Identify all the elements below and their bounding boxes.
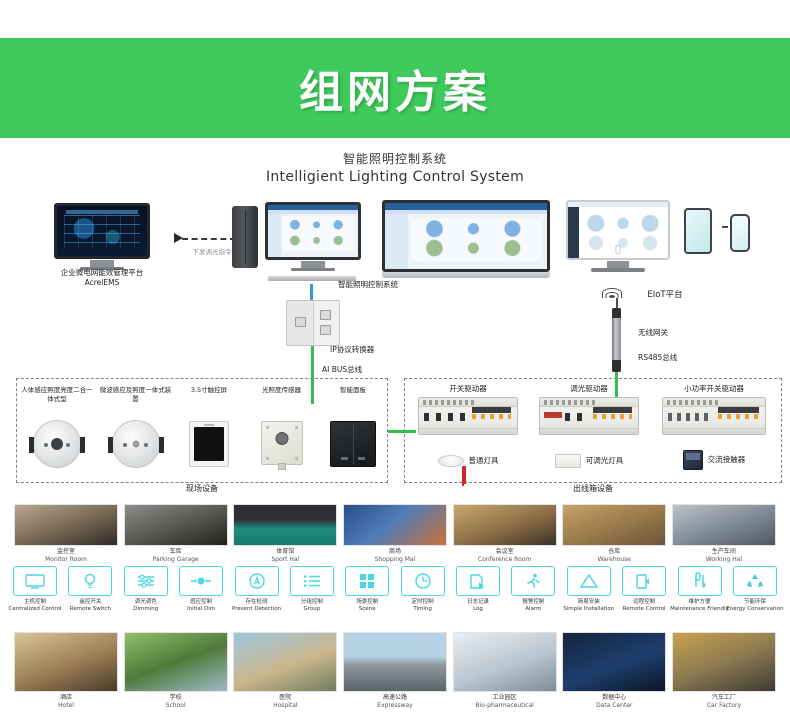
scene2-label-cn-4: 工业园区 <box>493 694 517 701</box>
field-item-label-1: 微波感应及照度一体式装置 <box>100 386 172 408</box>
sliders-icon <box>124 566 168 596</box>
feature-en-4: Present Detection <box>232 606 281 612</box>
scene2-label-cn-0: 酒店 <box>60 694 72 701</box>
driver-list: 开关驱动器 普通灯具 调光驱动器 可调光灯具 <box>412 384 774 470</box>
feature-cn-10: 简易安装 <box>578 599 600 605</box>
circle-a-icon <box>235 566 279 596</box>
field-item-motion-sensor[interactable]: 人体感应照度亮度二合一体式型 <box>20 386 94 468</box>
feature-cn-3: 感应控制 <box>190 599 212 605</box>
driver-load-label-1: 可调光灯具 <box>586 456 624 466</box>
driver-group-caption: 出线箱设备 <box>548 483 638 494</box>
scene-item[interactable]: 酒店 Hotel <box>14 632 118 710</box>
dispatch-arrow-line <box>182 238 236 240</box>
driver-label-2: 小功率开关驱动器 <box>654 384 774 394</box>
scene2-label-en-0: Hotel <box>58 702 74 709</box>
feature-en-2: Dimming <box>133 606 158 612</box>
list-icon <box>290 566 334 596</box>
scene-item[interactable]: 商场 Shopping Mal <box>343 504 447 564</box>
low-power-driver-icon <box>662 397 766 435</box>
scene-item[interactable]: 数据中心 Data Center <box>562 632 666 710</box>
scene-item[interactable]: 车库 Parking Garage <box>124 504 228 564</box>
scene-label-cn-5: 仓库 <box>608 548 620 555</box>
scene2-label-cn-1: 学校 <box>170 694 182 701</box>
wifi-icon <box>601 286 623 298</box>
grid-icon <box>345 566 389 596</box>
feature-en-13: Energy Conservation <box>726 606 783 612</box>
driver-load-label-0: 普通灯具 <box>469 456 499 466</box>
clock-icon <box>401 566 445 596</box>
feature-en-11: Remote Control <box>623 606 666 612</box>
feature-cn-5: 分组控制 <box>301 599 323 605</box>
scene-label-cn-2: 体育馆 <box>276 548 294 555</box>
recycle-icon <box>733 566 777 596</box>
feature-cn-11: 远程控制 <box>633 599 655 605</box>
field-item-microwave-sensor[interactable]: 微波感应及照度一体式装置 <box>100 386 172 468</box>
feature-item[interactable]: 节能环保 Energy Conservation <box>728 566 782 614</box>
feature-en-3: Initial Dim <box>187 606 215 612</box>
log-icon <box>456 566 500 596</box>
monitor-icon <box>13 566 57 596</box>
driver-item-lowpower[interactable]: 小功率开关驱动器 交流接触器 <box>654 384 774 470</box>
scene-item[interactable]: 体育馆 Sport Hal <box>233 504 337 564</box>
scene2-label-en-5: Data Center <box>596 702 632 709</box>
driver-item-switch[interactable]: 开关驱动器 普通灯具 <box>412 384 524 467</box>
scene-item[interactable]: 学校 School <box>124 632 228 710</box>
scene2-label-cn-2: 医院 <box>279 694 291 701</box>
eiot-imac[interactable]:  <box>566 200 670 272</box>
scene2-label-en-6: Car Factory <box>707 702 741 709</box>
ems-monitor[interactable] <box>54 203 150 270</box>
scene-label-en-2: Sport Hal <box>271 556 299 563</box>
feature-cn-9: 报警控制 <box>522 599 544 605</box>
ip-protocol-converter[interactable] <box>286 300 340 346</box>
driver-load-wire-2 <box>464 466 466 484</box>
scene-item[interactable]: 高速公路 Expressway <box>343 632 447 710</box>
scene2-label-en-2: Hospital <box>273 702 297 709</box>
feature-cn-8: 日志记录 <box>467 599 489 605</box>
scene2-label-en-3: Expressway <box>377 702 413 709</box>
scene-gallery-row-2: 酒店 Hotel 学校 School 医院 Hospital 高速公路 Expr… <box>14 632 776 710</box>
bulb-icon <box>68 566 112 596</box>
feature-en-8: Log <box>473 606 483 612</box>
driver-load-label-2: 交流接触器 <box>708 455 746 465</box>
dimmable-lamp-icon <box>555 454 581 468</box>
feature-en-5: Group <box>304 606 321 612</box>
driver-label-0: 开关驱动器 <box>412 384 524 394</box>
sensor-icon <box>179 566 223 596</box>
field-device-list: 人体感应照度亮度二合一体式型 微波感应及照度一体式装置 3.5寸触控屏 <box>20 386 384 468</box>
scene2-label-cn-3: 高速公路 <box>383 694 407 701</box>
system-title-cn: 智能照明控制系统 <box>0 150 790 167</box>
scene-item[interactable]: 生产车间 Working Hal <box>672 504 776 564</box>
scene-label-cn-1: 车库 <box>170 548 182 555</box>
feature-en-6: Scene <box>359 606 376 612</box>
system-title-block: 智能照明控制系统 Intelligient Lighting Control S… <box>0 150 790 185</box>
field-item-smart-switch[interactable]: 智能面板 <box>322 386 384 467</box>
feature-en-7: Timing <box>413 606 432 612</box>
ems-label-en: AcrelEMS <box>85 278 120 287</box>
feature-en-9: Alarm <box>525 606 541 612</box>
field-item-label-2: 3.5寸触控屏 <box>177 386 241 408</box>
driver-item-dimming[interactable]: 调光驱动器 可调光灯具 <box>533 384 645 468</box>
feature-cn-12: 维护方便 <box>688 599 710 605</box>
wireless-gateway[interactable] <box>612 308 621 372</box>
ems-label: 企业微电网能效管理平台 AcrelEMS <box>36 268 168 288</box>
scene-label-cn-3: 商场 <box>389 548 401 555</box>
feature-en-1: Remote Switch <box>70 606 111 612</box>
scene-label-cn-4: 会议室 <box>496 548 514 555</box>
normal-lamp-icon <box>438 455 464 467</box>
banner-title: 组网方案 <box>299 56 491 120</box>
workstation-label: 智能照明控制系统 <box>308 280 428 290</box>
feature-cn-4: 存在检测 <box>245 599 267 605</box>
converter-label: IP协议转换器 <box>330 345 410 355</box>
scene-item[interactable]: 仓库 Warehouse <box>562 504 666 564</box>
scene-label-en-3: Shopping Mal <box>375 556 416 563</box>
lux-sensor-icon <box>261 421 303 465</box>
server-tower <box>232 206 258 268</box>
dispatch-arrow-head <box>174 233 183 243</box>
scene2-label-en-1: School <box>166 702 186 709</box>
feature-cn-2: 调光调色 <box>135 599 157 605</box>
field-item-label-0: 人体感应照度亮度二合一体式型 <box>20 386 94 408</box>
ems-label-cn: 企业微电网能效管理平台 <box>61 268 144 277</box>
field-device-group-caption: 现场设备 <box>160 483 244 494</box>
workstation-monitor[interactable] <box>265 202 361 271</box>
scene-gallery-row-1: 监控室 Monitor Room 车库 Parking Garage 体育馆 S… <box>14 504 776 564</box>
scene2-label-cn-5: 数据中心 <box>602 694 626 701</box>
field-item-touch-panel[interactable]: 3.5寸触控屏 <box>177 386 241 467</box>
scene2-label-cn-6: 汽车工厂 <box>712 694 736 701</box>
scene-item[interactable]: 会议室 Conference Room <box>453 504 557 564</box>
feature-icon-row: 主机控制 Centralized Control 遥控开关 Remote Swi… <box>8 566 782 614</box>
workstation-downlink <box>310 284 313 300</box>
eiot-label: EIoT平台 <box>630 290 700 301</box>
ac-contactor-icon <box>683 450 703 470</box>
scene-item[interactable]: 工业园区 Bio-pharmaceutical <box>453 632 557 710</box>
switch-driver-icon <box>418 397 518 435</box>
scene2-label-en-4: Bio-pharmaceutical <box>475 702 533 709</box>
tools-icon <box>678 566 722 596</box>
page-banner: 组网方案 <box>0 38 790 138</box>
network-topology-diagram: 智能照明控制系统 Intelligient Lighting Control S… <box>0 138 790 724</box>
dimming-driver-icon <box>539 397 639 435</box>
feature-cn-0: 主机控制 <box>24 599 46 605</box>
motion-sensor-icon <box>33 420 81 468</box>
scene-item[interactable]: 医院 Hospital <box>233 632 337 710</box>
driver-label-1: 调光驱动器 <box>533 384 645 394</box>
field-item-label-3: 光照度传感器 <box>247 386 317 408</box>
wall-display[interactable] <box>382 200 550 278</box>
field-item-label-4: 智能面板 <box>322 386 384 408</box>
gateway-label: 无线网关 <box>638 328 704 338</box>
scene-label-en-0: Monitor Room <box>45 556 87 563</box>
scene-label-en-6: Working Hal <box>706 556 742 563</box>
touch-panel-icon <box>189 421 229 467</box>
eiot-tablet[interactable] <box>684 208 712 254</box>
smart-switch-icon <box>330 421 376 467</box>
scene-item[interactable]: 汽车工厂 Car Factory <box>672 632 776 710</box>
feature-cn-7: 定时控制 <box>412 599 434 605</box>
feature-cn-1: 遥控开关 <box>79 599 101 605</box>
system-title-en: Intelligient Lighting Control System <box>0 169 790 185</box>
scene-label-cn-6: 生产车间 <box>712 548 736 555</box>
feature-cn-6: 场景控制 <box>356 599 378 605</box>
remote-icon <box>622 566 666 596</box>
feature-en-10: Simple Installation <box>563 606 614 612</box>
eiot-phone[interactable] <box>730 214 750 252</box>
running-man-icon <box>511 566 555 596</box>
rs485-label: RS485总线 <box>638 353 704 363</box>
field-item-lux-sensor[interactable]: 光照度传感器 <box>247 386 317 465</box>
microwave-sensor-icon <box>112 420 160 468</box>
scene-label-en-1: Parking Garage <box>153 556 199 563</box>
aibus-label: AI BUS总线 <box>322 365 392 375</box>
scene-label-cn-0: 监控室 <box>57 548 75 555</box>
phone-connector <box>722 226 728 228</box>
scene-item[interactable]: 监控室 Monitor Room <box>14 504 118 564</box>
triangle-icon <box>567 566 611 596</box>
scene-label-en-5: Warehouse <box>598 556 631 563</box>
scene-label-en-4: Conference Room <box>478 556 531 563</box>
apple-logo-icon:  <box>615 245 620 255</box>
feature-cn-13: 节能环保 <box>744 599 766 605</box>
